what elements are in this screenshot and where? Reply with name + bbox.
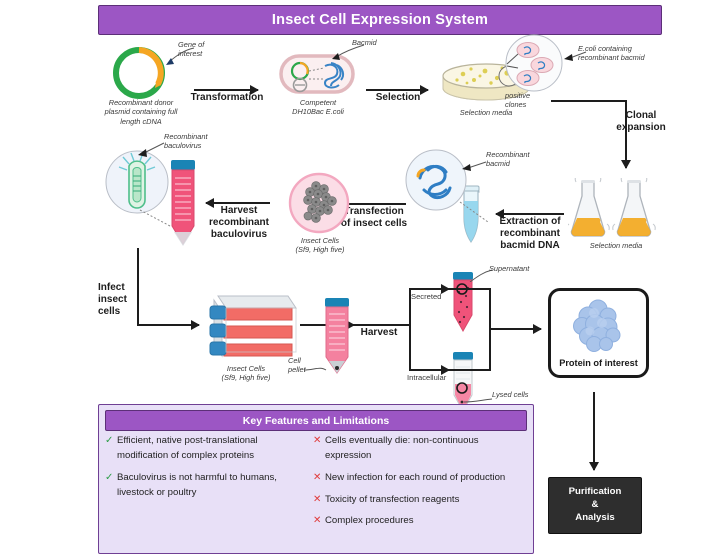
lysed-cells-label: Lysed cells [492,390,548,399]
list-item: ✓ Baculovirus is not harmful to humans, … [105,471,311,501]
recombinant-donor-plasmid-label: Recombinant donor plasmid containing ful… [98,98,184,126]
key-features-heading: Key Features and Limitations [243,415,389,427]
selection-media-flask-label: Selection media [568,241,664,250]
insect-cells-dish-label: Insect Cells (Sf9, High five) [282,236,358,255]
limitation-text: Complex procedures [325,514,414,529]
arrow-transformation [194,89,258,91]
insect-cells-dish-icon [288,172,350,234]
supernatant-label: Supernatant [489,264,547,273]
bacmid-label: Bacmid [352,38,400,47]
cross-icon: ✕ [313,434,325,449]
cell-pellet-label: Cell pellet [288,356,320,375]
list-item: ✕ New infection for each round of produc… [313,471,527,486]
key-features-panel: Key Features and Limitations ✓ Efficient… [98,404,534,554]
cross-icon: ✕ [313,493,325,508]
check-icon: ✓ [105,471,117,486]
step-harvest: Harvest [350,327,408,339]
recombinant-baculovirus-callout-line [130,140,166,160]
recombinant-baculovirus-label: Recombinant baculovirus [164,132,230,151]
selection-media-plate-label: Selection media [446,108,526,117]
harvest-connector-in [354,324,410,326]
gene-of-interest-label: Gene of interest [178,40,238,59]
check-icon: ✓ [105,434,117,449]
arrow-secreted [409,288,449,290]
step-harvest-recombinant-baculovirus: Harvest recombinant baculovirus [198,205,280,241]
limitations-column: ✕ Cells eventually die: non-continuous e… [313,434,527,536]
merge-connector-top [449,288,491,290]
arrow-harvest-baculovirus [206,202,270,204]
recombinant-bacmid-callout-line [452,158,488,176]
step-transformation: Transformation [189,92,265,104]
diagram-canvas: Insect Cell Expression System Gene of in… [0,0,721,556]
list-item: ✓ Efficient, native post-translational m… [105,434,311,464]
advantage-text: Efficient, native post-translational mod… [117,434,311,464]
list-item: ✕ Cells eventually die: non-continuous e… [313,434,527,464]
limitation-text: Cells eventually die: non-continuous exp… [325,434,527,464]
arrow-to-purification [593,392,595,470]
merge-connector-bottom [449,369,491,371]
petri-zoom-connector [505,50,519,72]
selection-media-flasks-icon [568,178,664,240]
step-infect-insect-cells: Infect insect cells [98,282,144,318]
baculovirus-bubble-connector [136,198,178,232]
limitation-text: New infection for each round of producti… [325,471,505,486]
arrow-extraction [496,213,564,215]
clonal-expansion-connector-h [551,100,627,102]
step-clonal-expansion: Clonal expansion [595,110,687,134]
arrow-selection [366,89,428,91]
purification-analysis-box: Purification & Analysis [548,477,642,534]
arrow-to-protein-box [489,328,541,330]
cross-icon: ✕ [313,514,325,529]
bacmid-bubble-connector [458,196,500,230]
key-features-header: Key Features and Limitations [105,410,527,431]
ecoli-containing-recombinant-bacmid-label: E.coli containing recombinant bacmid [578,44,678,63]
competent-ecoli-label: Competent DH10Bac E.coli [280,98,356,117]
page-title-banner: Insect Cell Expression System [98,5,662,35]
purification-analysis-label: Purification & Analysis [569,486,622,525]
cross-icon: ✕ [313,471,325,486]
insect-cells-culture-flasks-icon [200,294,298,366]
list-item: ✕ Toxicity of transfection reagents [313,493,527,508]
arrow-intracellular [409,369,449,371]
advantages-column: ✓ Efficient, native post-translational m… [105,434,311,507]
step-selection: Selection [362,92,434,104]
arrow-infect-insect-cells [137,324,199,326]
list-item: ✕ Complex procedures [313,514,527,529]
advantage-text: Baculovirus is not harmful to humans, li… [117,471,311,501]
limitation-text: Toxicity of transfection reagents [325,493,459,508]
protein-of-interest-box: Protein of interest [548,288,649,378]
page-title: Insect Cell Expression System [272,12,488,28]
protein-of-interest-label: Protein of interest [551,358,646,368]
insect-cells-flasks-label: Insect Cells (Sf9, High five) [198,364,294,383]
protein-blob-icon [568,299,628,355]
recombinant-bacmid-label: Recombinant bacmid [486,150,550,169]
